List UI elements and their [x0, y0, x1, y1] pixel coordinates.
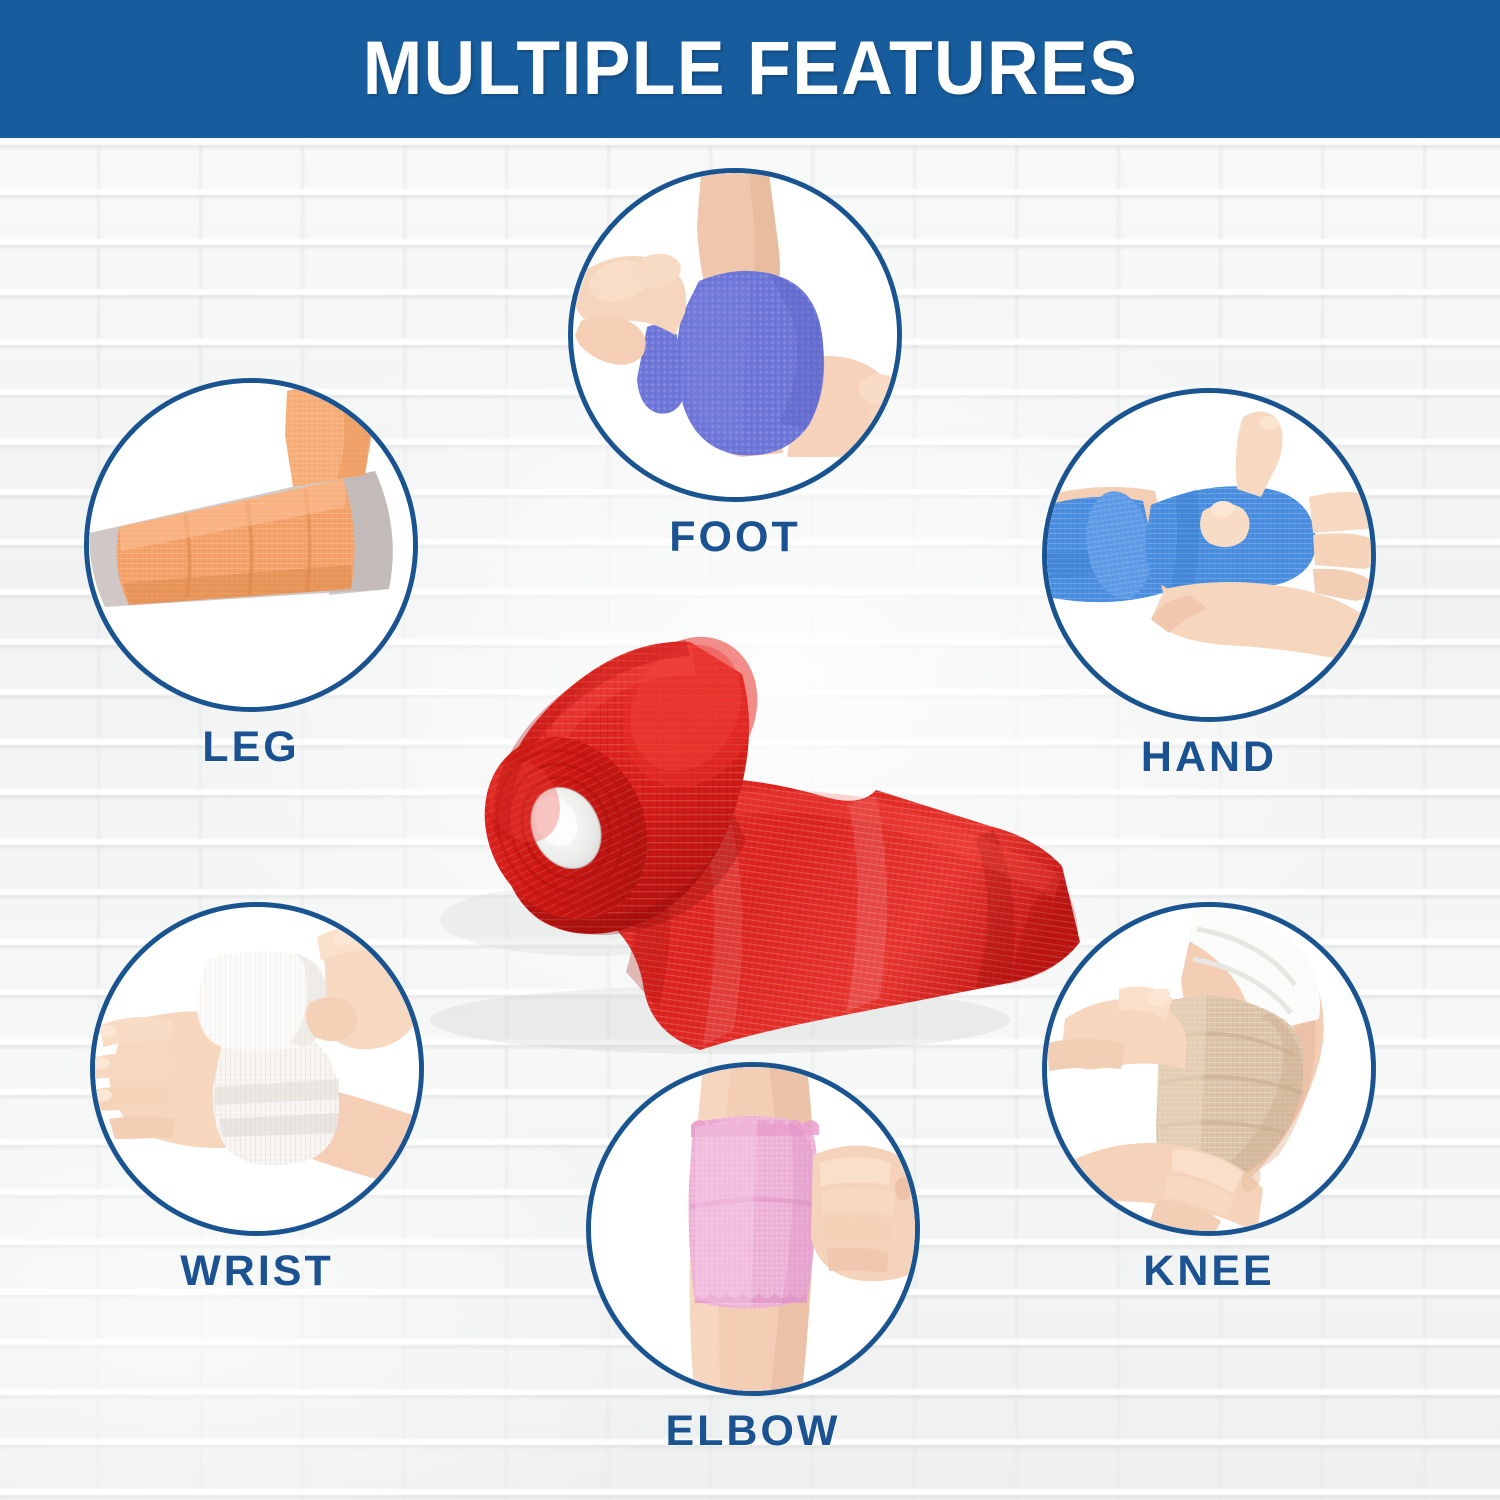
feature-elbow: ELBOW: [586, 1062, 920, 1396]
feature-foot: FOOT: [568, 168, 902, 502]
feature-label-leg: LEG: [202, 723, 299, 772]
product-bandage-roll: [390, 590, 1110, 1070]
foot-photo: [573, 173, 897, 497]
leg-circle: [84, 378, 418, 712]
feature-label-elbow: ELBOW: [665, 1407, 840, 1456]
feature-label-wrist: WRIST: [180, 1247, 334, 1296]
elbow-circle: [586, 1062, 920, 1396]
foot-circle: [568, 168, 902, 502]
feature-label-knee: KNEE: [1143, 1247, 1274, 1296]
feature-label-foot: FOOT: [669, 513, 800, 562]
elbow-photo: [591, 1067, 915, 1391]
infographic-page: MULTIPLE FEATURES: [0, 0, 1500, 1500]
header-banner: MULTIPLE FEATURES: [0, 0, 1500, 138]
feature-label-hand: HAND: [1141, 733, 1277, 782]
page-title: MULTIPLE FEATURES: [362, 31, 1137, 107]
feature-wrist: WRIST: [90, 902, 424, 1236]
leg-photo: [89, 383, 413, 707]
wrist-photo: [95, 907, 419, 1231]
feature-leg: LEG: [84, 378, 418, 712]
wrist-circle: [90, 902, 424, 1236]
